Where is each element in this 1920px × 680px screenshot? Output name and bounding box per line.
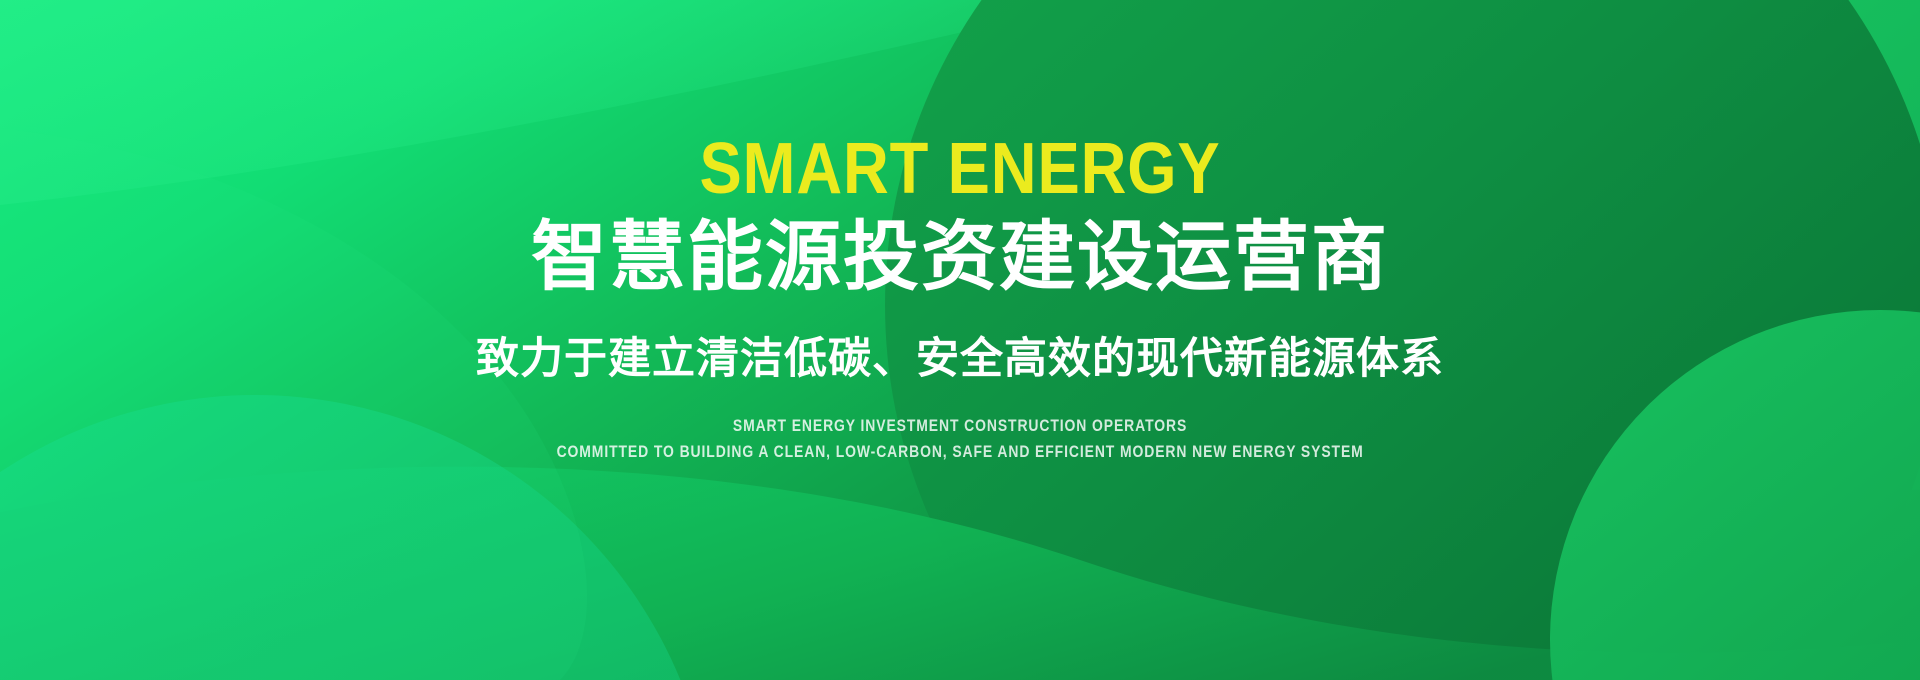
smart-energy-hero-banner: SMART ENERGY 智慧能源投资建设运营商 致力于建立清洁低碳、安全高效的… — [0, 0, 1920, 680]
headline-english: SMART ENERGY — [699, 133, 1220, 205]
caption-line-two: COMMITTED TO BUILDING A CLEAN, LOW-CARBO… — [556, 443, 1363, 460]
banner-content: SMART ENERGY 智慧能源投资建设运营商 致力于建立清洁低碳、安全高效的… — [0, 0, 1920, 680]
subtitle-chinese: 致力于建立清洁低碳、安全高效的现代新能源体系 — [476, 338, 1444, 381]
headline-chinese: 智慧能源投资建设运营商 — [531, 220, 1389, 296]
caption-line-one: SMART ENERGY INVESTMENT CONSTRUCTION OPE… — [733, 417, 1187, 434]
